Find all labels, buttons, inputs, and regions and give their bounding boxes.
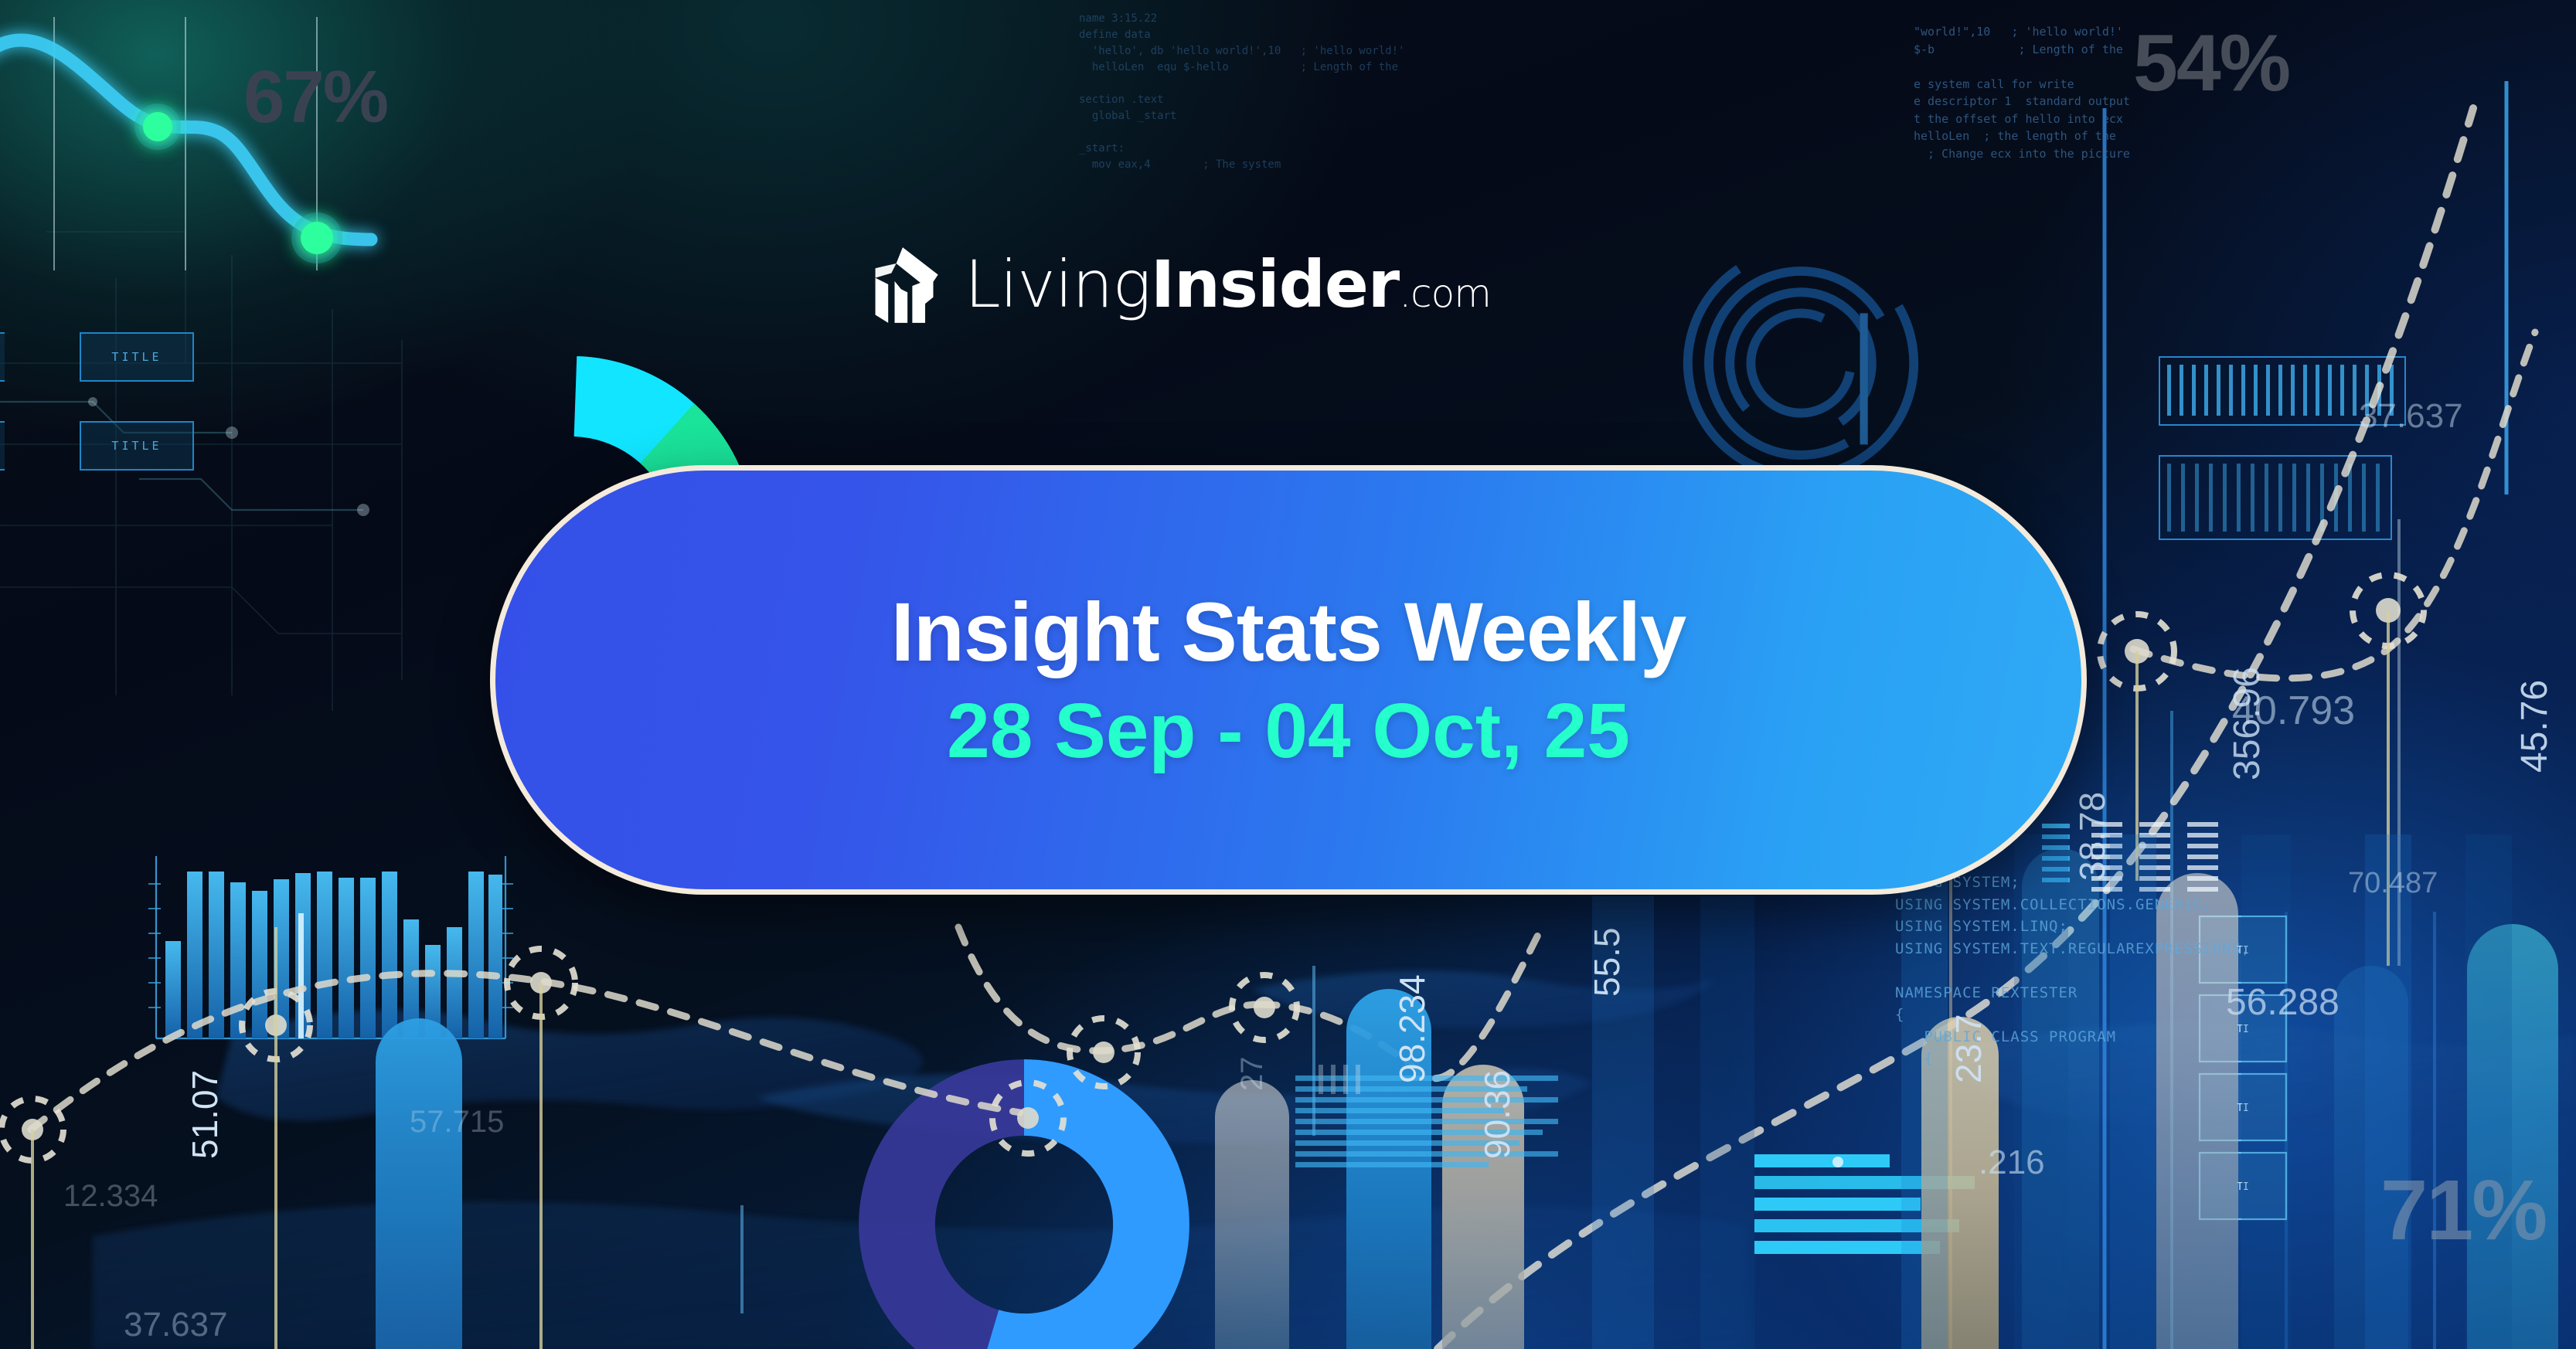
data-label-98-234: 98.234 (1391, 974, 1433, 1083)
data-label-45-76: 45.76 (2513, 680, 2556, 773)
data-label-90-36: 90.36 (1476, 1070, 1518, 1159)
percent-label-71: 71% (2380, 1168, 2546, 1253)
data-label-38-78: 38.78 (2071, 792, 2113, 881)
percent-label-67: 67% (243, 60, 387, 134)
code-block-right: "world!",10 ; 'hello world!' $-b ; Lengt… (1914, 23, 2130, 162)
data-label-70-487: 70.487 (2348, 867, 2438, 900)
data-label-56-288: 56.288 (2226, 981, 2339, 1024)
data-label-27: 27 (1235, 1057, 1270, 1092)
brand-logo[interactable]: LivingInsider.com (864, 244, 1491, 325)
poster-canvas: TITLE TITLE (0, 0, 2576, 1349)
data-label-55-5: 55.5 (1586, 927, 1628, 997)
brand-name-light: Living (965, 246, 1151, 322)
data-label-37-637: 37.637 (124, 1306, 228, 1344)
data-label-57-715: 57.715 (410, 1105, 504, 1140)
code-block-top: name 3:15.22 define data 'hello', db 'he… (1079, 11, 1404, 173)
card-date-range: 28 Sep - 04 Oct, 25 (947, 691, 1630, 770)
insight-stats-card[interactable]: Insight Stats Weekly 28 Sep - 04 Oct, 25 (490, 465, 2087, 895)
data-label-37-637: 37.637 (2359, 397, 2463, 436)
card-title: Insight Stats Weekly (891, 590, 1686, 674)
data-label-12-334: 12.334 (63, 1179, 158, 1214)
brand-tld: .com (1399, 271, 1491, 316)
brand-wordmark: LivingInsider.com (965, 252, 1491, 317)
percent-label-54: 54% (2133, 23, 2289, 104)
data-label--216: .216 (1979, 1143, 2045, 1182)
house-cube-logo-icon (864, 244, 944, 325)
data-label-40-793: 40.793 (2232, 688, 2355, 734)
brand-name-bold: Insider (1151, 246, 1399, 322)
data-label-51-07: 51.07 (184, 1070, 226, 1159)
data-label-23-7: 23.7 (1948, 1014, 1989, 1083)
